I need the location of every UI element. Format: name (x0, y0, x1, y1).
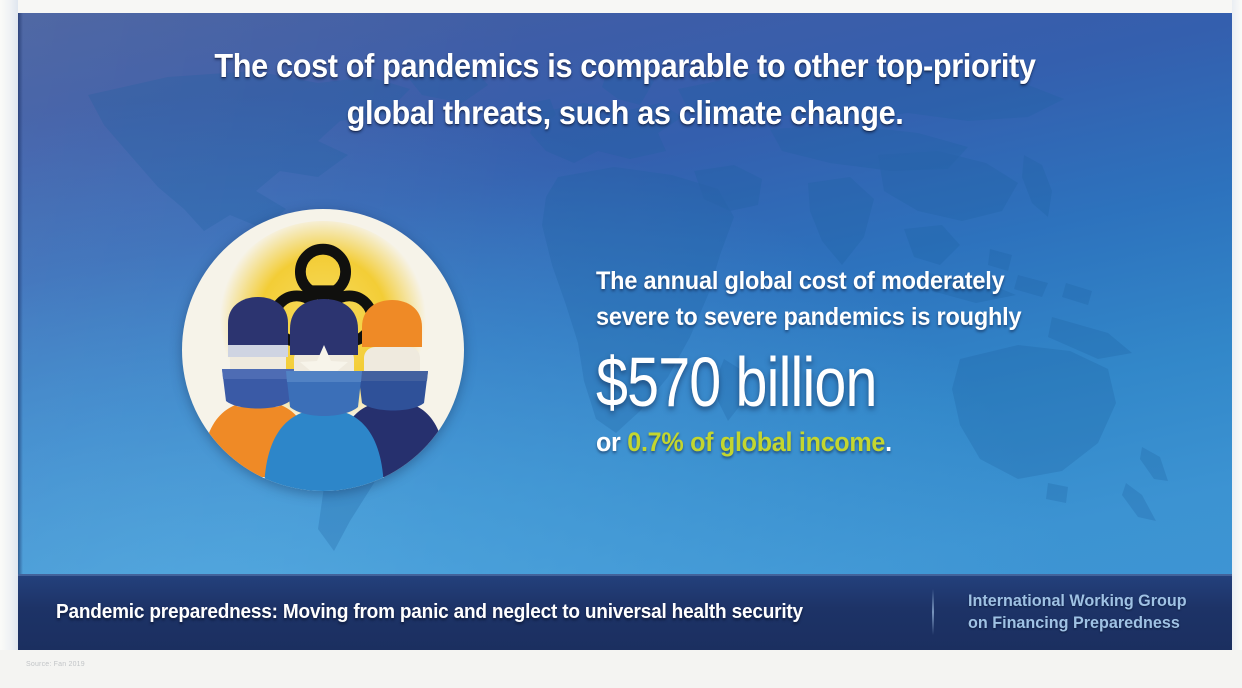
stat-amount: $570 billion (596, 347, 1022, 418)
page-margin-right (1232, 0, 1242, 688)
organization-name-line-1: International Working Group (968, 590, 1187, 612)
stat-sub-suffix: . (885, 427, 892, 457)
page-margin-bottom (0, 650, 1242, 688)
biohazard-masked-people-icon (178, 205, 468, 495)
stat-subline: or 0.7% of global income. (596, 426, 1080, 458)
headline-line-2: global threats, such as climate change. (60, 90, 1189, 137)
slide-footer: Pandemic preparedness: Moving from panic… (18, 574, 1232, 650)
footer-title: Pandemic preparedness: Moving from panic… (56, 601, 803, 624)
page-margin-top (0, 0, 1242, 13)
stat-lead-line-1: The annual global cost of moderately (596, 263, 1085, 299)
stat-sub-highlight: 0.7% of global income (627, 427, 885, 457)
slide-headline: The cost of pandemics is comparable to o… (60, 43, 1189, 137)
source-caption: Source: Fan 2019 (26, 661, 85, 668)
stat-block: The annual global cost of moderately sev… (596, 263, 1116, 459)
slide-canvas: The cost of pandemics is comparable to o… (0, 0, 1242, 688)
slide-left-edge-shading (18, 13, 23, 650)
footer-divider (932, 589, 934, 635)
page-margin-left (0, 0, 18, 688)
stat-lead-text: The annual global cost of moderately sev… (596, 263, 1085, 335)
organization-logo-text: International Working Group on Financing… (968, 590, 1187, 634)
infographic-slide: The cost of pandemics is comparable to o… (18, 13, 1232, 650)
organization-name-line-2: on Financing Preparedness (968, 612, 1187, 634)
stat-lead-line-2: severe to severe pandemics is roughly (596, 299, 1085, 335)
headline-line-1: The cost of pandemics is comparable to o… (60, 43, 1189, 90)
stat-sub-prefix: or (596, 427, 627, 457)
